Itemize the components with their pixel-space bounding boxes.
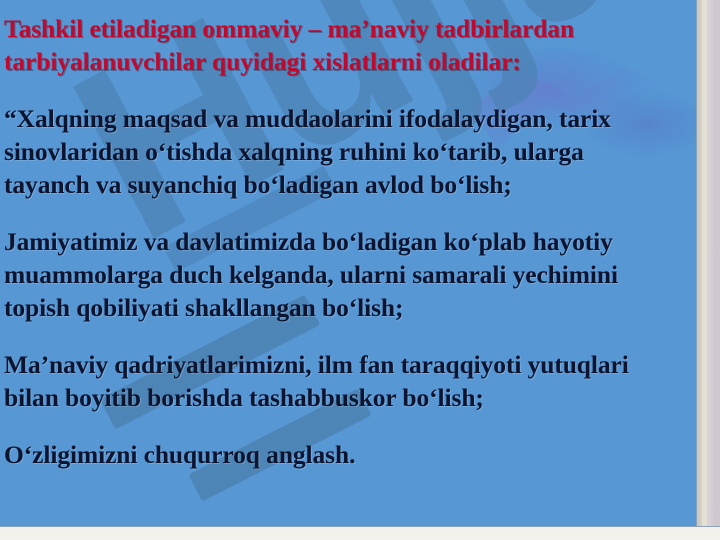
- slide-content: Tashkil etiladigan ommaviy – ma’naviy ta…: [0, 0, 698, 471]
- title-line: Tashkil etiladigan ommaviy – ma’naviy ta…: [4, 12, 692, 45]
- title-line: tarbiyalanuvchilar quyidagi xislatlarni …: [4, 45, 692, 78]
- paragraph-line: O‘zligimizni chuqurroq anglash.: [4, 438, 692, 471]
- paragraph-line: tayanch va suyanchiq bo‘ladigan avlod bo…: [4, 168, 692, 201]
- slide-canvas: Hujjat Tashkil etiladigan ommaviy – ma’n…: [0, 0, 698, 527]
- paragraph-line: Ma’naviy qadriyatlarimizni, ilm fan tara…: [4, 348, 692, 381]
- slide-title: Tashkil etiladigan ommaviy – ma’naviy ta…: [4, 12, 692, 78]
- paragraph-line: sinovlaridan o‘tishda xalqning ruhini ko…: [4, 135, 692, 168]
- paragraph-2: Jamiyatimiz va davlatimizda bo‘ladigan k…: [4, 225, 692, 324]
- paragraph-line: muammolarga duch kelganda, ularni samara…: [4, 258, 692, 291]
- paragraph-line: topish qobiliyati shakllangan bo‘lish;: [4, 291, 692, 324]
- paragraph-line: bilan boyitib borishda tashabbuskor bo‘l…: [4, 381, 692, 414]
- page-edge-bottom: [0, 526, 720, 540]
- page-edge-right: [696, 0, 720, 540]
- paragraph-4: O‘zligimizni chuqurroq anglash.: [4, 438, 692, 471]
- paragraph-3: Ma’naviy qadriyatlarimizni, ilm fan tara…: [4, 348, 692, 414]
- paragraph-line: “Xalqning maqsad va muddaolarini ifodala…: [4, 102, 692, 135]
- paragraph-line: Jamiyatimiz va davlatimizda bo‘ladigan k…: [4, 225, 692, 258]
- paragraph-1: “Xalqning maqsad va muddaolarini ifodala…: [4, 102, 692, 201]
- slide-root: Hujjat Tashkil etiladigan ommaviy – ma’n…: [0, 0, 720, 540]
